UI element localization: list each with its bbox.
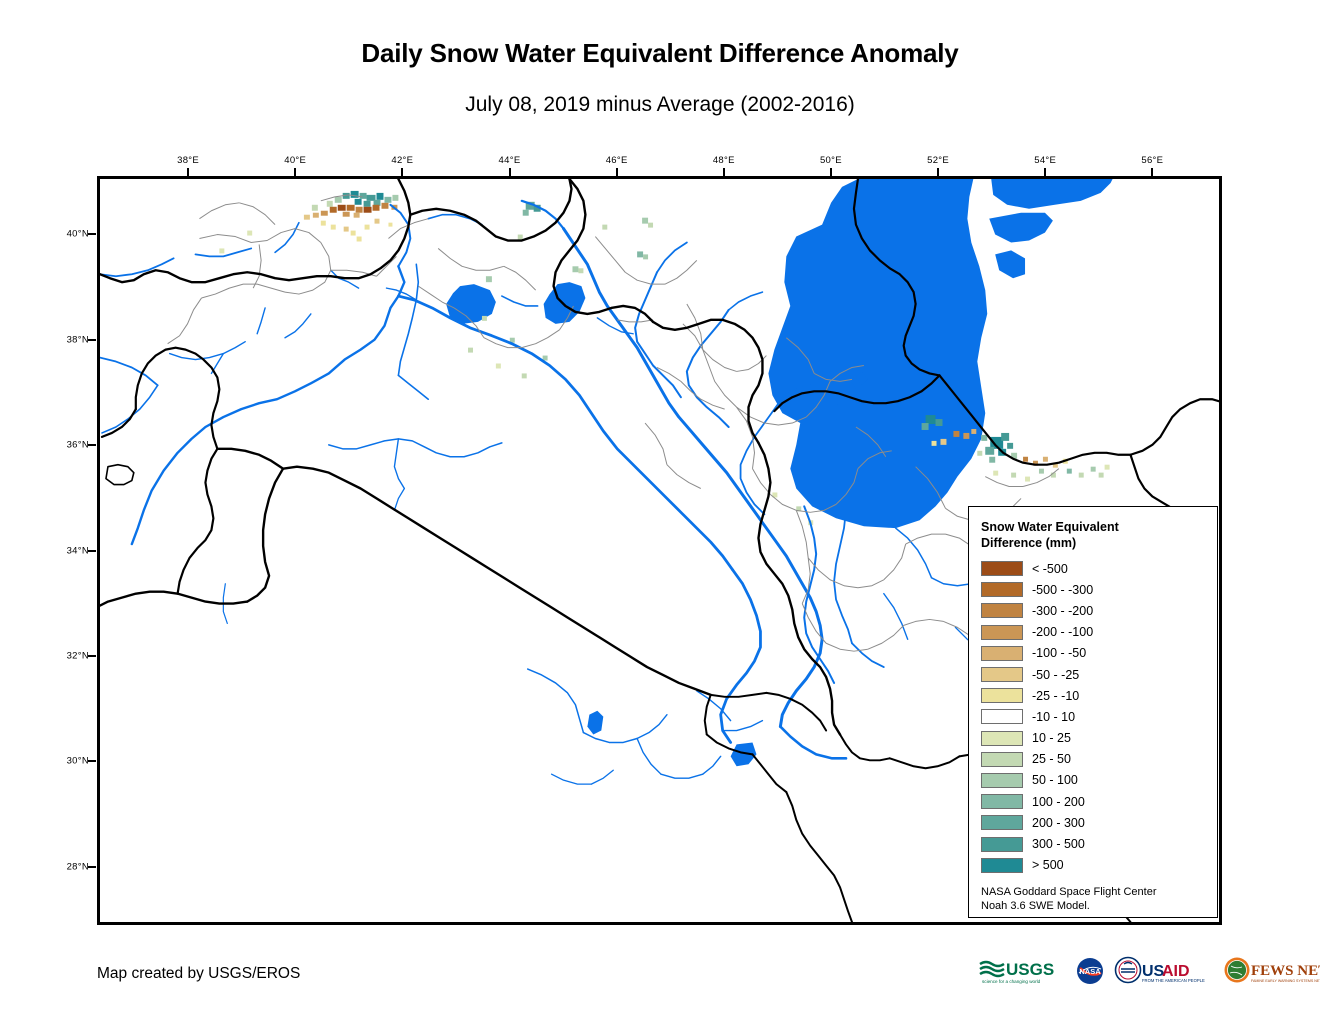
longitude-tick-mark [723,168,725,176]
latitude-tick-label: 30°N [67,756,89,767]
legend-title-line2: Difference (mm) [981,535,1207,551]
legend-label: -10 - 10 [1032,710,1075,724]
legend-label: 10 - 25 [1032,731,1071,745]
svg-text:FAMINE EARLY WARNING SYSTEMS N: FAMINE EARLY WARNING SYSTEMS NETWORK [1251,979,1320,983]
longitude-tick-label: 48°E [713,155,735,166]
svg-text:NASA: NASA [1079,967,1101,976]
longitude-tick-mark [937,168,939,176]
latitude-tick-mark [88,760,96,762]
legend-row: -300 - -200 [981,600,1207,621]
longitude-tick-label: 44°E [499,155,521,166]
legend-swatch [981,709,1023,724]
legend-row: -10 - 10 [981,706,1207,727]
legend-swatch [981,773,1023,788]
latitude-tick-label: 32°N [67,650,89,661]
longitude-tick-mark [1151,168,1153,176]
latitude-tick-mark [88,444,96,446]
page-subtitle: July 08, 2019 minus Average (2002-2016) [0,93,1320,117]
nasa-logo: NASA [1075,956,1105,986]
legend-label: 200 - 300 [1032,816,1085,830]
usgs-logo: USGS science for a changing world [978,956,1066,986]
longitude-tick-label: 40°E [284,155,306,166]
legend-title-line1: Snow Water Equivalent [981,519,1207,535]
legend-swatch [981,752,1023,767]
legend-label: > 500 [1032,858,1064,872]
legend-swatch [981,603,1023,618]
latitude-tick-mark [88,339,96,341]
legend-row: -25 - -10 [981,685,1207,706]
legend-title: Snow Water Equivalent Difference (mm) [981,519,1207,551]
legend-row: 200 - 300 [981,812,1207,833]
agency-logo-row: USGS science for a changing world NASA U… [978,956,1320,986]
svg-text:FEWS NET: FEWS NET [1251,963,1320,979]
legend-label: < -500 [1032,562,1068,576]
legend-swatch [981,815,1023,830]
legend-note-line2: Noah 3.6 SWE Model. [981,899,1207,914]
legend-swatch [981,837,1023,852]
legend-swatch [981,731,1023,746]
legend-row: 100 - 200 [981,791,1207,812]
longitude-tick-mark [830,168,832,176]
legend-row: -100 - -50 [981,643,1207,664]
legend-swatch [981,561,1023,576]
legend-row: < -500 [981,558,1207,579]
legend-row: 25 - 50 [981,749,1207,770]
legend-swatch [981,667,1023,682]
legend-label: -500 - -300 [1032,583,1093,597]
legend-swatch [981,794,1023,809]
legend-row: -500 - -300 [981,579,1207,600]
latitude-tick-label: 40°N [67,229,89,240]
legend-swatch [981,625,1023,640]
fewsnet-logo: FEWS NET FAMINE EARLY WARNING SYSTEMS NE… [1223,956,1320,986]
legend-swatch [981,688,1023,703]
longitude-tick-mark [616,168,618,176]
legend-class-list: < -500-500 - -300-300 - -200-200 - -100-… [981,558,1207,876]
latitude-tick-mark [88,655,96,657]
longitude-tick-label: 52°E [927,155,949,166]
legend-row: 300 - 500 [981,833,1207,854]
longitude-tick-label: 38°E [177,155,199,166]
map-credit: Map created by USGS/EROS [97,965,300,983]
map-legend: Snow Water Equivalent Difference (mm) < … [968,506,1218,918]
legend-label: -100 - -50 [1032,646,1086,660]
longitude-tick-mark [509,168,511,176]
legend-swatch [981,582,1023,597]
latitude-tick-label: 36°N [67,440,89,451]
latitude-tick-mark [88,550,96,552]
usaid-logo: US AID FROM THE AMERICAN PEOPLE [1114,956,1214,986]
legend-row: 10 - 25 [981,728,1207,749]
svg-text:FROM THE AMERICAN PEOPLE: FROM THE AMERICAN PEOPLE [1142,978,1205,983]
longitude-tick-label: 54°E [1034,155,1056,166]
legend-label: -300 - -200 [1032,604,1093,618]
latitude-tick-mark [88,233,96,235]
longitude-tick-label: 50°E [820,155,842,166]
legend-note-line1: NASA Goddard Space Flight Center [981,885,1207,900]
legend-label: -25 - -10 [1032,689,1079,703]
svg-text:USGS: USGS [1006,960,1054,979]
legend-label: 50 - 100 [1032,773,1078,787]
longitude-tick-label: 46°E [606,155,628,166]
longitude-tick-mark [1044,168,1046,176]
legend-label: -50 - -25 [1032,668,1079,682]
longitude-tick-mark [187,168,189,176]
legend-label: 25 - 50 [1032,752,1071,766]
latitude-tick-label: 28°N [67,861,89,872]
latitude-tick-label: 34°N [67,545,89,556]
legend-swatch [981,646,1023,661]
legend-row: 50 - 100 [981,770,1207,791]
page-title: Daily Snow Water Equivalent Difference A… [0,38,1320,69]
svg-text:science for a changing world: science for a changing world [982,979,1041,984]
latitude-tick-label: 38°N [67,334,89,345]
legend-row: > 500 [981,855,1207,876]
latitude-tick-mark [88,866,96,868]
legend-label: 300 - 500 [1032,837,1085,851]
legend-label: 100 - 200 [1032,795,1085,809]
legend-label: -200 - -100 [1032,625,1093,639]
legend-row: -50 - -25 [981,664,1207,685]
longitude-tick-mark [294,168,296,176]
legend-swatch [981,858,1023,873]
longitude-tick-label: 42°E [391,155,413,166]
legend-row: -200 - -100 [981,622,1207,643]
longitude-tick-label: 56°E [1141,155,1163,166]
legend-source-note: NASA Goddard Space Flight Center Noah 3.… [981,885,1207,914]
longitude-tick-mark [401,168,403,176]
